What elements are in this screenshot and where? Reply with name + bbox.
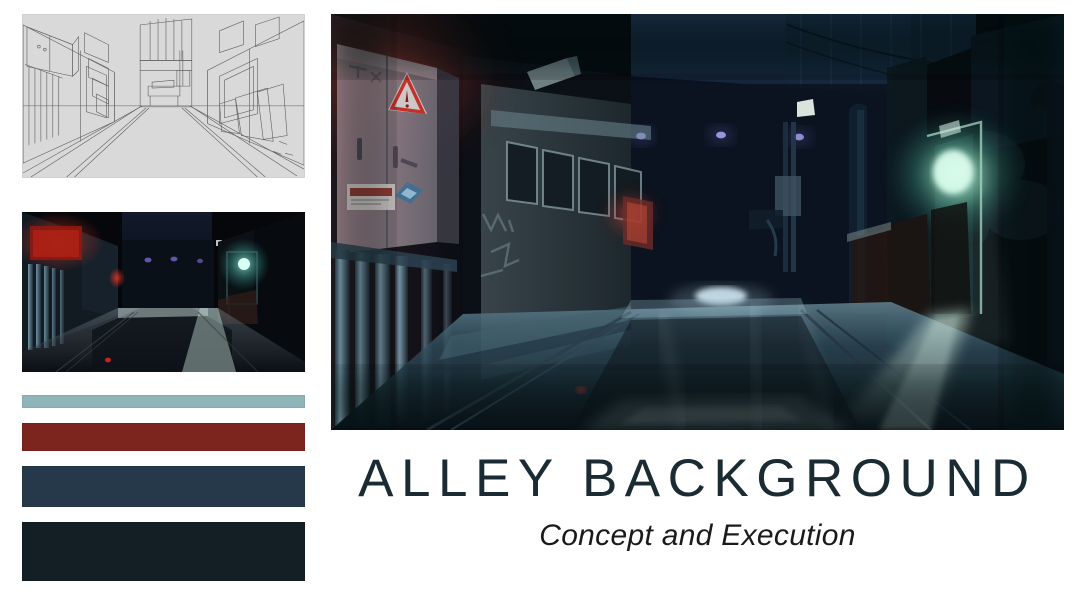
swatch-gap xyxy=(22,408,305,423)
page-title: ALLEY BACKGROUND xyxy=(331,452,1064,505)
swatch-gap xyxy=(22,507,305,522)
title-block: ALLEY BACKGROUND Concept and Execution xyxy=(331,452,1064,553)
swatch-pale-teal[interactable] xyxy=(22,395,305,408)
thumbnail-panel[interactable] xyxy=(22,212,305,372)
lineart-drawing xyxy=(23,15,304,177)
swatch-brick-red[interactable] xyxy=(22,423,305,451)
swatch-slate-navy[interactable] xyxy=(22,466,305,507)
page-subtitle: Concept and Execution xyxy=(331,519,1064,553)
thumbnail-art xyxy=(22,212,305,372)
hero-painting[interactable] xyxy=(331,14,1064,430)
swatch-ink-black[interactable] xyxy=(22,522,305,581)
hero-artwork xyxy=(331,14,1064,430)
palette-swatches xyxy=(22,395,305,581)
swatch-gap xyxy=(22,451,305,466)
left-column xyxy=(22,14,305,581)
lineart-panel[interactable] xyxy=(22,14,305,178)
